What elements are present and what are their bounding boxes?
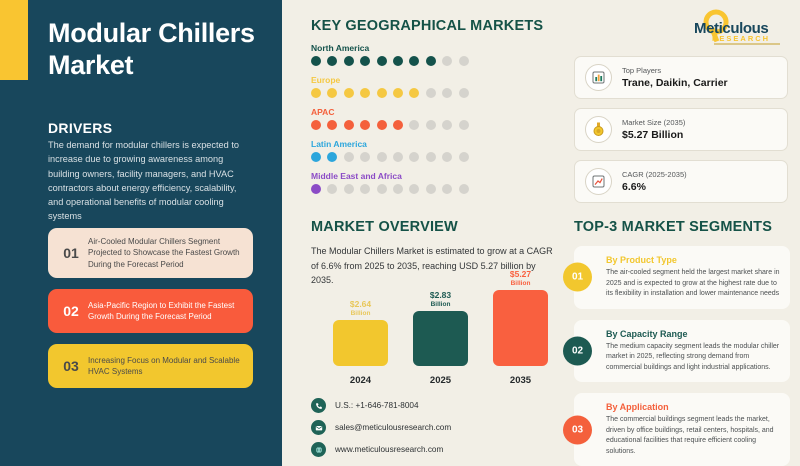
- segment-number-badge: 02: [563, 336, 592, 365]
- driver-number: 02: [58, 303, 84, 319]
- driver-text: Asia-Pacific Region to Exhibit the Faste…: [84, 300, 243, 323]
- driver-text: Air-Cooled Modular Chillers Segment Proj…: [84, 236, 243, 270]
- geo-dot-empty: [426, 88, 436, 98]
- overview-title: MARKET OVERVIEW: [311, 219, 563, 235]
- geo-dot-empty: [409, 184, 419, 194]
- driver-card-list: 01 Air-Cooled Modular Chillers Segment P…: [48, 228, 253, 399]
- geo-region-label: North America: [311, 43, 561, 53]
- segment-list: 01By Product TypeThe air-cooled segment …: [574, 246, 790, 466]
- segment-title: By Application: [606, 402, 780, 412]
- stat-label: Market Size (2035): [622, 118, 685, 127]
- geo-dot-empty: [409, 152, 419, 162]
- geo-dot-empty: [393, 184, 403, 194]
- geo-dot-scale: [311, 184, 561, 194]
- contact-row-email[interactable]: sales@meticulousresearch.com: [311, 420, 561, 435]
- trend-chart-icon: [585, 168, 612, 195]
- bar-value-label: $5.27: [510, 270, 531, 280]
- geo-dot-empty: [360, 184, 370, 194]
- bar-category-label: 2025: [413, 375, 468, 386]
- geo-dot-empty: [426, 152, 436, 162]
- driver-number: 03: [58, 358, 84, 374]
- driver-number: 01: [58, 245, 84, 261]
- contact-text: www.meticulousresearch.com: [335, 445, 443, 454]
- geo-dot-filled: [311, 184, 321, 194]
- geo-dot-empty: [459, 152, 469, 162]
- contact-row-website[interactable]: www.meticulousresearch.com: [311, 442, 561, 457]
- geo-dot-filled: [393, 56, 403, 66]
- stat-card-market-size[interactable]: Market Size (2035) $5.27 Billion: [574, 108, 788, 151]
- geo-dot-filled: [393, 88, 403, 98]
- geo-dot-filled: [393, 120, 403, 130]
- geo-region-label: Latin America: [311, 139, 561, 149]
- driver-card-02[interactable]: 02 Asia-Pacific Region to Exhibit the Fa…: [48, 289, 253, 333]
- geo-dot-empty: [426, 184, 436, 194]
- stat-label: Top Players: [622, 66, 728, 75]
- geo-region-label: Middle East and Africa: [311, 171, 561, 181]
- geo-row: North America: [311, 43, 561, 66]
- drivers-text: The demand for modular chillers is expec…: [48, 138, 253, 224]
- market-segments-section: TOP-3 MARKET SEGMENTS 01By Product TypeT…: [574, 219, 790, 466]
- segments-title: TOP-3 MARKET SEGMENTS: [574, 219, 790, 235]
- geo-dot-empty: [377, 152, 387, 162]
- geo-dot-filled: [409, 88, 419, 98]
- geo-dot-filled: [360, 120, 370, 130]
- geo-row: Europe: [311, 75, 561, 98]
- bar-column: $5.27Billion: [493, 270, 548, 366]
- stat-card-top-players[interactable]: Top Players Trane, Daikin, Carrier: [574, 56, 788, 99]
- geo-dot-empty: [344, 184, 354, 194]
- geo-dot-filled: [311, 152, 321, 162]
- bar-unit-label: Billion: [351, 310, 371, 317]
- geo-dot-empty: [442, 184, 452, 194]
- geo-dot-filled: [311, 120, 321, 130]
- geo-dot-empty: [393, 152, 403, 162]
- geo-rows: North AmericaEuropeAPACLatin AmericaMidd…: [311, 43, 561, 194]
- contact-list: U.S.: +1-646-781-8004 sales@meticulousre…: [311, 398, 561, 464]
- chart-x-axis-labels: 202420252035: [333, 375, 548, 386]
- geo-dot-filled: [360, 56, 370, 66]
- geo-dot-filled: [344, 56, 354, 66]
- segment-body: The air-cooled segment held the largest …: [606, 268, 780, 300]
- geo-dot-empty: [442, 120, 452, 130]
- driver-text: Increasing Focus on Modular and Scalable…: [84, 355, 243, 378]
- geo-dot-empty: [409, 120, 419, 130]
- stat-card-cagr[interactable]: CAGR (2025-2035) 6.6%: [574, 160, 788, 203]
- geo-dot-empty: [327, 184, 337, 194]
- driver-card-01[interactable]: 01 Air-Cooled Modular Chillers Segment P…: [48, 228, 253, 278]
- accent-block: [0, 0, 28, 80]
- geo-dot-filled: [377, 56, 387, 66]
- segment-card-01[interactable]: 01By Product TypeThe air-cooled segment …: [574, 246, 790, 309]
- segment-title: By Capacity Range: [606, 329, 780, 339]
- geo-dot-filled: [311, 88, 321, 98]
- stat-label: CAGR (2025-2035): [622, 170, 687, 179]
- geo-dot-empty: [442, 88, 452, 98]
- geo-dot-filled: [360, 88, 370, 98]
- stat-card-list: Top Players Trane, Daikin, Carrier Marke…: [574, 56, 788, 212]
- geo-dot-filled: [327, 56, 337, 66]
- geo-dot-scale: [311, 152, 561, 162]
- segment-card-02[interactable]: 02By Capacity RangeThe medium capacity s…: [574, 320, 790, 383]
- medal-icon: [585, 116, 612, 143]
- geo-dot-filled: [327, 88, 337, 98]
- email-icon: [311, 420, 326, 435]
- geographical-markets-section: KEY GEOGRAPHICAL MARKETS North AmericaEu…: [311, 18, 561, 194]
- bar-unit-label: Billion: [511, 280, 531, 287]
- geo-row: Middle East and Africa: [311, 171, 561, 194]
- chart-bar: [413, 311, 468, 366]
- geo-dot-filled: [409, 56, 419, 66]
- stat-value: 6.6%: [622, 181, 687, 193]
- driver-card-03[interactable]: 03 Increasing Focus on Modular and Scala…: [48, 344, 253, 388]
- geo-dot-scale: [311, 88, 561, 98]
- globe-icon: [311, 442, 326, 457]
- segment-number-badge: 03: [563, 415, 592, 444]
- geo-dot-filled: [327, 152, 337, 162]
- geo-dot-empty: [344, 152, 354, 162]
- bar-category-label: 2024: [333, 375, 388, 386]
- geo-dot-empty: [459, 120, 469, 130]
- geo-dot-empty: [442, 56, 452, 66]
- segment-body: The commercial buildings segment leads t…: [606, 415, 780, 457]
- geo-dot-filled: [377, 120, 387, 130]
- geo-dot-empty: [459, 184, 469, 194]
- chart-bar: [493, 290, 548, 366]
- chart-bar: [333, 320, 388, 366]
- bar-chart-icon: [585, 64, 612, 91]
- bar-value-label: $2.83: [430, 291, 451, 301]
- page-title: Modular Chillers Market: [48, 18, 258, 82]
- brand-logo[interactable]: Meticulous RESEARCH: [686, 8, 790, 48]
- geo-dot-empty: [459, 56, 469, 66]
- geo-row: APAC: [311, 107, 561, 130]
- contact-text: sales@meticulousresearch.com: [335, 423, 451, 432]
- contact-text: U.S.: +1-646-781-8004: [335, 401, 419, 410]
- geo-row: Latin America: [311, 139, 561, 162]
- chart-bars: $2.64Billion$2.83Billion$5.27Billion: [333, 270, 548, 366]
- stat-value: Trane, Daikin, Carrier: [622, 77, 728, 89]
- phone-icon: [311, 398, 326, 413]
- geo-dot-empty: [377, 184, 387, 194]
- sidebar-panel: Modular Chillers Market DRIVERS The dema…: [0, 0, 282, 466]
- bar-category-label: 2035: [493, 375, 548, 386]
- geo-dot-filled: [426, 56, 436, 66]
- geo-dot-filled: [311, 56, 321, 66]
- geo-dot-empty: [360, 152, 370, 162]
- geo-dot-empty: [442, 152, 452, 162]
- geo-region-label: Europe: [311, 75, 561, 85]
- bar-column: $2.64Billion: [333, 300, 388, 366]
- geo-dot-scale: [311, 56, 561, 66]
- geo-section-title: KEY GEOGRAPHICAL MARKETS: [311, 18, 561, 34]
- segment-number-badge: 01: [563, 263, 592, 292]
- bar-value-label: $2.64: [350, 300, 371, 310]
- contact-row-phone[interactable]: U.S.: +1-646-781-8004: [311, 398, 561, 413]
- segment-card-03[interactable]: 03By ApplicationThe commercial buildings…: [574, 393, 790, 466]
- bar-column: $2.83Billion: [413, 291, 468, 366]
- logo-subtitle: RESEARCH: [712, 34, 770, 43]
- geo-region-label: APAC: [311, 107, 561, 117]
- segment-title: By Product Type: [606, 255, 780, 265]
- bar-unit-label: Billion: [431, 301, 451, 308]
- market-size-bar-chart: $2.64Billion$2.83Billion$5.27Billion 202…: [311, 283, 561, 388]
- geo-dot-empty: [459, 88, 469, 98]
- stat-value: $5.27 Billion: [622, 129, 685, 141]
- geo-dot-filled: [377, 88, 387, 98]
- geo-dot-filled: [344, 120, 354, 130]
- geo-dot-filled: [327, 120, 337, 130]
- logo-tagline-rule: [714, 43, 780, 45]
- geo-dot-empty: [426, 120, 436, 130]
- drivers-heading: DRIVERS: [48, 120, 112, 136]
- geo-dot-scale: [311, 120, 561, 130]
- geo-dot-filled: [344, 88, 354, 98]
- segment-body: The medium capacity segment leads the mo…: [606, 342, 780, 374]
